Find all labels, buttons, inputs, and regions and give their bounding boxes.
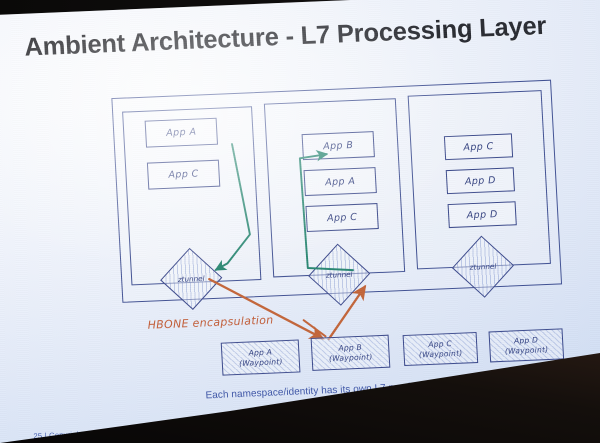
ztunnel-label-right: ztunnel xyxy=(469,262,496,272)
app-box-a-middle: App A xyxy=(304,167,377,196)
app-box-d-right-2: App D xyxy=(448,201,517,228)
waypoint-row: App A (Waypoint) App B (Waypoint) App C … xyxy=(221,328,533,375)
waypoint-a-role: (Waypoint) xyxy=(239,357,283,368)
waypoint-box-d: App D (Waypoint) xyxy=(489,328,565,362)
page-title: Ambient Architecture - L7 Processing Lay… xyxy=(24,12,545,63)
app-box-b-middle: App B xyxy=(302,131,375,160)
app-box-c-left: App C xyxy=(147,160,220,190)
ztunnel-label-left: ztunnel xyxy=(178,274,205,284)
hbone-encapsulation-label: HBONE encapsulation xyxy=(147,313,274,331)
architecture-diagram: App A App C App B App A App C App C App … xyxy=(111,80,562,303)
app-box-d-right-1: App D xyxy=(446,167,515,194)
waypoint-box-c: App C (Waypoint) xyxy=(403,332,479,366)
ztunnel-label-middle: ztunnel xyxy=(326,270,353,280)
waypoint-c-role: (Waypoint) xyxy=(419,348,463,359)
arrow-hbone-stub xyxy=(304,319,326,337)
waypoint-box-a: App A (Waypoint) xyxy=(221,339,301,375)
app-box-a-left: App A xyxy=(145,118,218,148)
photo-scene: Ambient Architecture - L7 Processing Lay… xyxy=(0,0,600,443)
waypoint-box-b: App B (Waypoint) xyxy=(311,335,391,371)
app-box-c-right: App C xyxy=(444,133,513,160)
waypoint-b-role: (Waypoint) xyxy=(329,352,373,363)
app-box-c-middle: App C xyxy=(305,203,378,232)
waypoint-d-role: (Waypoint) xyxy=(505,345,549,356)
